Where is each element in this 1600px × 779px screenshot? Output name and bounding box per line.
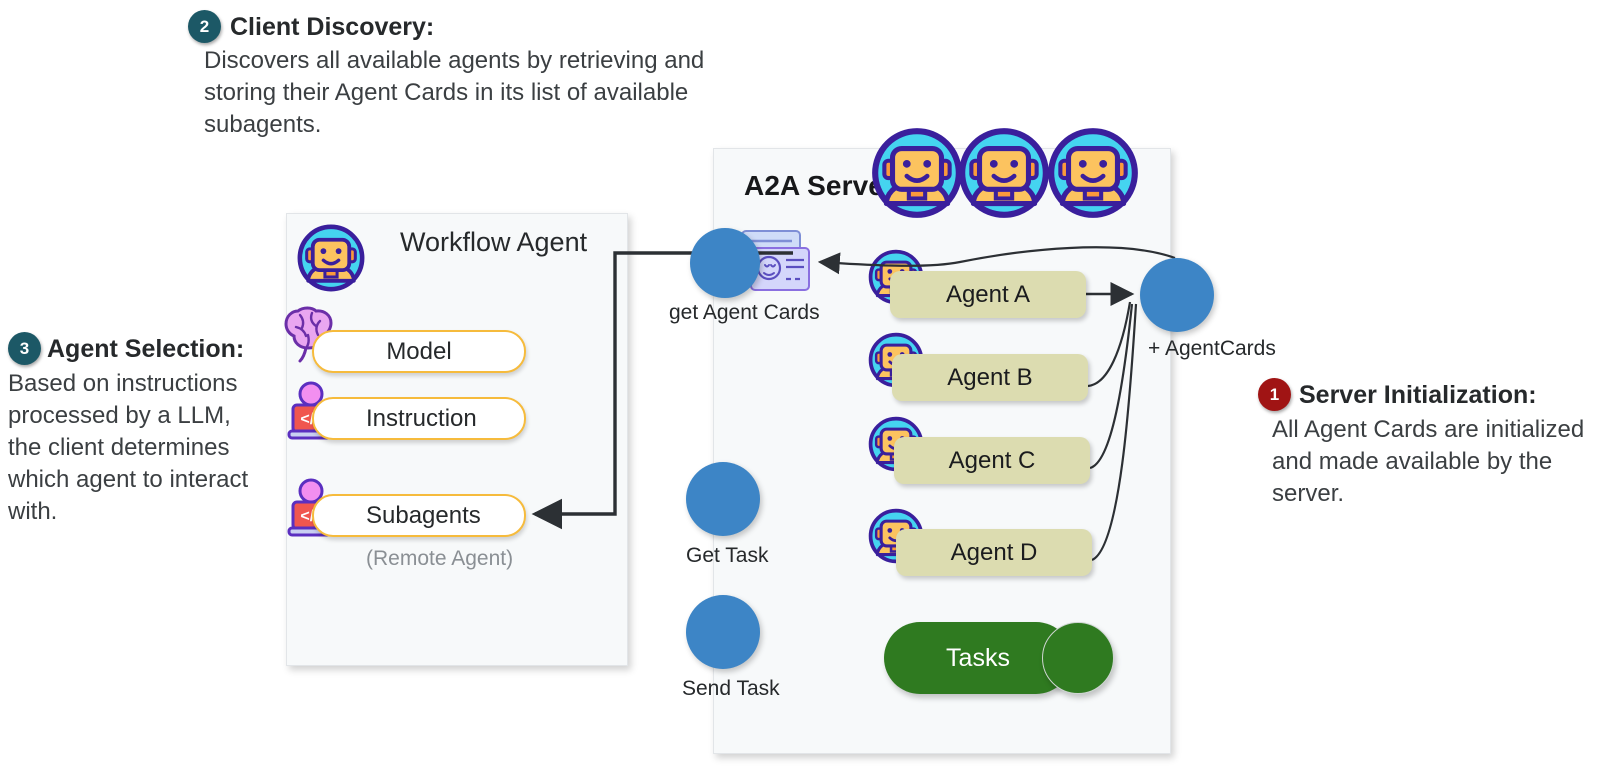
- agent-label-c: Agent C: [949, 447, 1036, 475]
- tasks-label: Tasks: [884, 622, 1072, 694]
- step-badge-1: 1: [1258, 378, 1291, 411]
- workflow-row-label-subagents: Subagents: [366, 502, 481, 530]
- workflow-row-model[interactable]: Model: [312, 330, 526, 373]
- get-task-endpoint[interactable]: [686, 462, 760, 536]
- step-callout-server-initialization: 1 Server Initialization: All Agent Cards…: [1258, 378, 1588, 510]
- agentcards-label: + AgentCards: [1148, 337, 1276, 361]
- workflow-agent-title: Workflow Agent: [400, 227, 587, 258]
- agentcards-store-circle[interactable]: [1140, 258, 1214, 332]
- step-title-3: Agent Selection:: [47, 335, 244, 364]
- step-body-3: Based on instructions processed by a LLM…: [8, 368, 260, 528]
- step-body-2: Discovers all available agents by retrie…: [204, 45, 748, 141]
- workflow-row-label-instruction: Instruction: [366, 405, 477, 433]
- step-badge-2: 2: [188, 10, 221, 43]
- agent-box-c[interactable]: Agent C: [894, 437, 1090, 484]
- step-callout-client-discovery: 2 Client Discovery: Discovers all availa…: [188, 10, 748, 141]
- agent-label-b: Agent B: [947, 364, 1032, 392]
- agent-box-d[interactable]: Agent D: [896, 529, 1092, 576]
- get-agent-cards-endpoint[interactable]: [690, 228, 760, 298]
- step-title-2: Client Discovery:: [230, 13, 434, 42]
- get-task-label: Get Task: [686, 544, 768, 568]
- a2a-server-title: A2A Server: [744, 170, 895, 202]
- remote-agent-sublabel: (Remote Agent): [366, 547, 513, 571]
- workflow-row-instruction[interactable]: Instruction: [312, 397, 526, 440]
- step-badge-3: 3: [8, 332, 41, 365]
- agent-box-a[interactable]: Agent A: [890, 271, 1086, 318]
- step-callout-agent-selection: 3 Agent Selection: Based on instructions…: [8, 332, 260, 528]
- get-agent-cards-label: get Agent Cards: [669, 301, 820, 325]
- send-task-endpoint[interactable]: [686, 595, 760, 669]
- agent-label-a: Agent A: [946, 281, 1030, 309]
- agent-box-b[interactable]: Agent B: [892, 354, 1088, 401]
- agent-label-d: Agent D: [951, 539, 1038, 567]
- step-title-1: Server Initialization:: [1299, 381, 1537, 410]
- step-body-1: All Agent Cards are initialized and made…: [1272, 414, 1588, 510]
- workflow-row-subagents[interactable]: Subagents: [312, 494, 526, 537]
- tasks-shape[interactable]: Tasks: [884, 622, 1114, 694]
- workflow-row-label-model: Model: [386, 338, 451, 366]
- send-task-label: Send Task: [682, 677, 780, 701]
